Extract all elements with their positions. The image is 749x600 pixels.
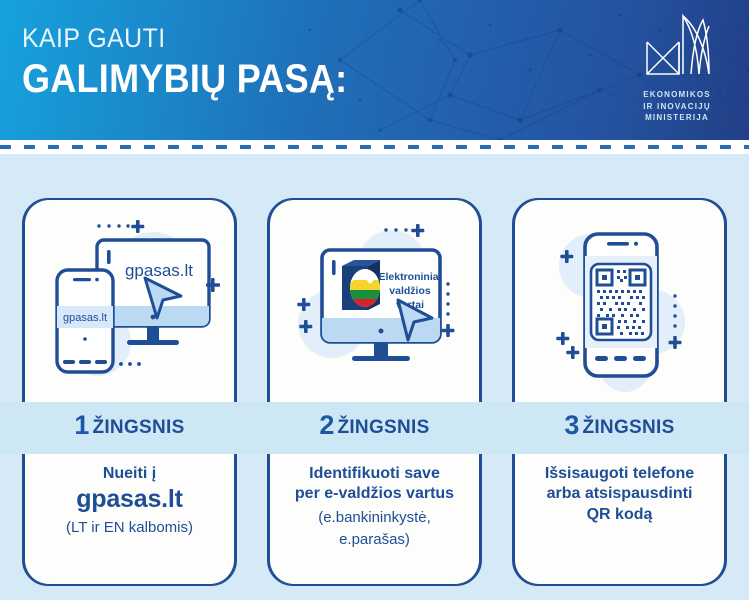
step-2-caption-line-4: e.parašas) [276,530,473,550]
monitor-evaldzia-portal-icon: Elektroniniai valdžios vartai [270,206,479,402]
monitor-and-phone-gpasas-icon: gpasas.lt gpasas.lt [25,206,234,402]
step-3-caption-line-1: Išsisaugoti telefone [521,464,718,484]
step-3-caption-line-3: QR kodą [521,505,718,525]
step-caption-2: Identifikuoti save per e-valdžios vartus… [270,460,479,550]
steps-section: gpasas.lt gpasas.lt [0,154,749,600]
logo-line-3: MINISTERIJA [627,112,727,124]
step-caption-3: Išsisaugoti telefone arba atsispausdinti… [515,460,724,525]
step-word-1: ŽINGSNIS [92,417,184,438]
step-number-3: 3 [564,410,579,440]
phone-screen-label: gpasas.lt [62,312,106,324]
step-label-3: 3ŽINGSNIS [512,410,727,441]
step-1-caption-line-2: gpasas.lt [31,484,228,515]
step-1-caption-line-1: Nueiti į [31,464,228,484]
dashed-divider [0,140,749,154]
step-3-caption-line-2: arba atsispausdinti [521,484,718,504]
step-caption-1: Nueiti į gpasas.lt (LT ir EN kalbomis) [25,460,234,537]
logo-line-1: EKONOMIKOS [627,89,727,101]
header-banner: KAIP GAUTI GALIMYBIŲ PASĄ: EKONOMIKOS IR [0,0,749,140]
header-subtitle: KAIP GAUTI [22,24,355,53]
step-label-2: 2ŽINGSNIS [267,410,482,441]
step-1-caption-line-3: (LT ir EN kalbomis) [31,518,228,538]
step-2-caption-line-3: (e.bankininkystė, [276,508,473,528]
step-number-2: 2 [319,410,334,440]
header-title: GALIMYBIŲ PASĄ: [22,57,347,101]
logo-line-2: IR INOVACIJŲ [627,101,727,113]
step-2-caption-line-1: Identifikuoti save [276,464,473,484]
portal-label-line-2: valdžios [389,285,431,297]
infographic-page: KAIP GAUTI GALIMYBIŲ PASĄ: EKONOMIKOS IR [0,0,749,600]
step-number-1: 1 [74,410,89,440]
phone-qr-code-icon [515,206,724,402]
portal-label-line-1: Elektroniniai [378,271,441,283]
ministry-logo: EKONOMIKOS IR INOVACIJŲ MINISTERIJA [627,12,727,124]
ministry-logo-text: EKONOMIKOS IR INOVACIJŲ MINISTERIJA [627,89,727,124]
step-cards: gpasas.lt gpasas.lt [0,154,749,600]
step-word-3: ŽINGSNIS [582,417,674,438]
header-title-group: KAIP GAUTI GALIMYBIŲ PASĄ: [22,24,384,101]
step-word-2: ŽINGSNIS [337,417,429,438]
monitor-screen-label: gpasas.lt [124,261,192,280]
divider-dashes [0,145,749,149]
step-label-1: 1ŽINGSNIS [22,410,237,441]
step-2-caption-line-2: per e-valdžios vartus [276,484,473,504]
ministry-logo-mark [639,12,715,84]
